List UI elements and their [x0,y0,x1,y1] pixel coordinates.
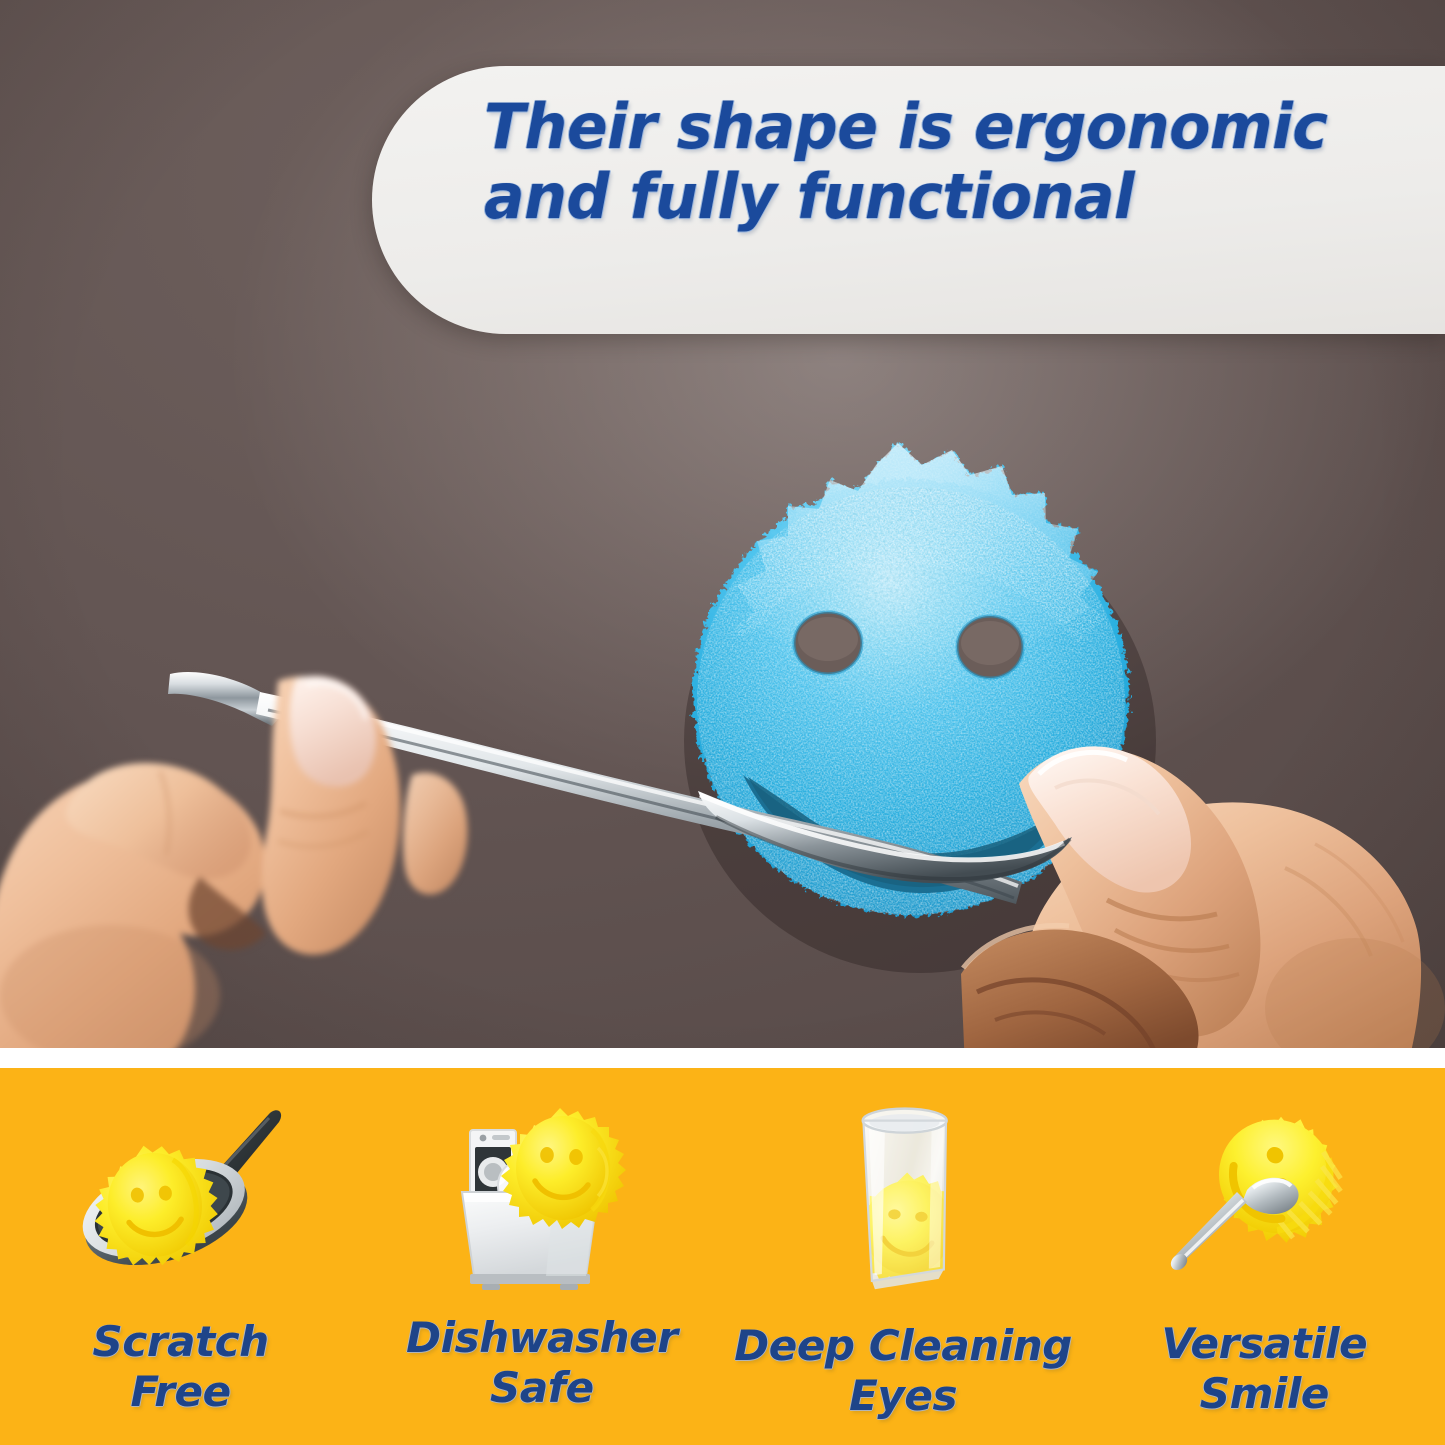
page-title: Their shape is ergonomicand fully functi… [484,92,1386,232]
sponge-with-spoon-icon [1157,1104,1372,1299]
product-feature-image: Their shape is ergonomicand fully functi… [0,0,1445,1445]
headline-panel: Their shape is ergonomicand fully functi… [372,66,1445,334]
feature-deep-cleaning-eyes: Deep Cleaning Eyes [723,1068,1084,1445]
feature-label: Deep Cleaning Eyes [734,1321,1072,1420]
product-photo: Their shape is ergonomicand fully functi… [0,0,1445,1048]
left-hand [0,615,480,1048]
metal-spoon-bowl [690,775,1110,905]
feature-bar: Scratch Free [0,1068,1445,1445]
headline-line-2: and fully functional [484,160,1134,233]
feature-versatile-smile: Versatile Smile [1084,1068,1445,1445]
frying-pan-with-sponge-icon [73,1104,288,1299]
dishwasher-basket-with-sponge-icon [434,1104,649,1299]
feature-label: Scratch Free [92,1317,268,1416]
feature-label: Dishwasher Safe [406,1313,677,1412]
drinking-glass-with-sponge-icon [796,1104,1011,1299]
feature-dishwasher-safe: Dishwasher Safe [361,1068,722,1445]
headline-line-1: Their shape is ergonomic [484,90,1327,163]
feature-scratch-free: Scratch Free [0,1068,361,1445]
section-divider [0,1048,1445,1068]
feature-label: Versatile Smile [1162,1319,1368,1418]
